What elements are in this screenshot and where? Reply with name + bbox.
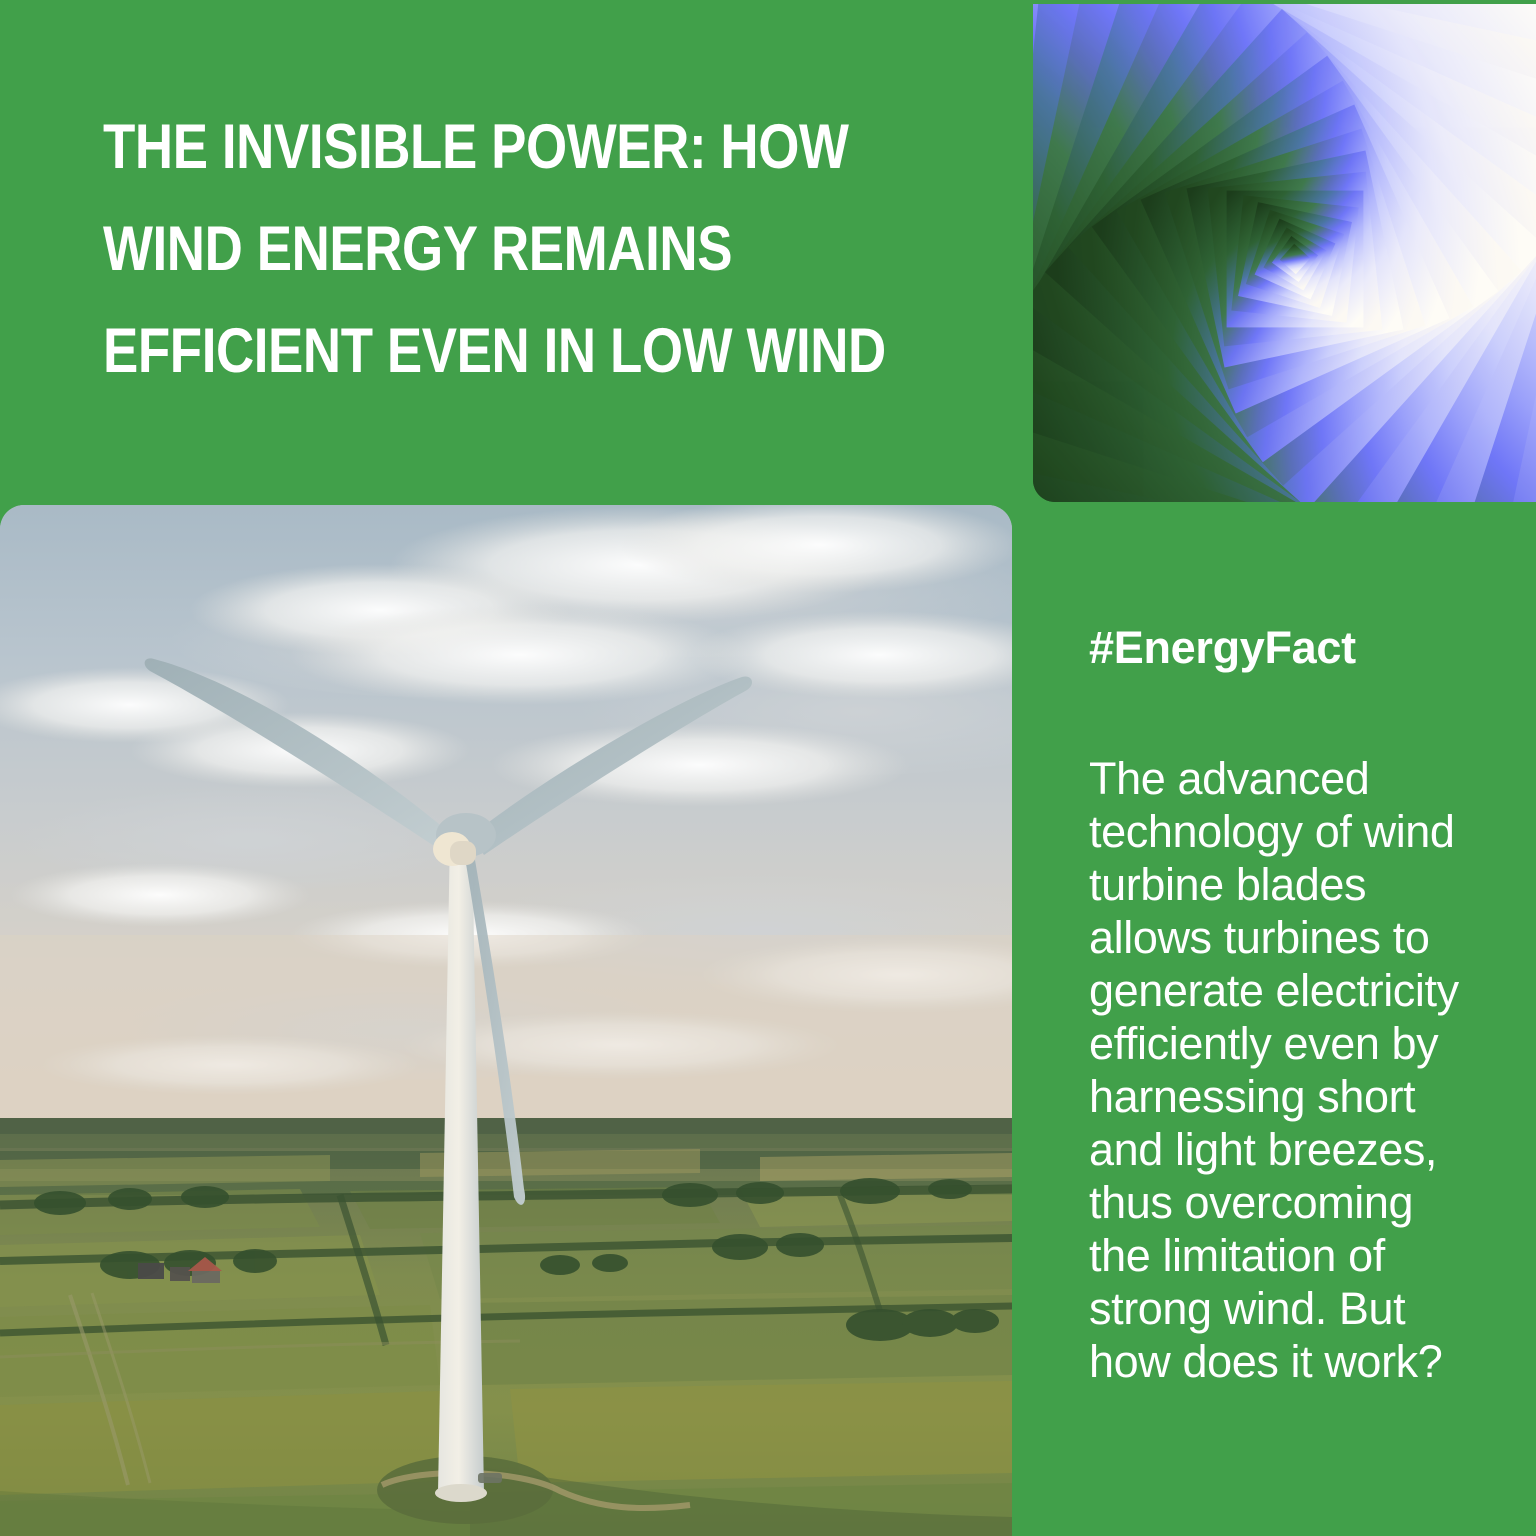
title-line-2: WIND ENERGY REMAINS: [103, 198, 809, 300]
poster-canvas: THE INVISIBLE POWER: HOW WIND ENERGY REM…: [0, 0, 1536, 1536]
fact-body-text: The advanced technology of wind turbine …: [1089, 752, 1484, 1388]
abstract-spiral-graphic: [1033, 4, 1536, 502]
title-line-1: THE INVISIBLE POWER: HOW: [103, 96, 809, 198]
hashtag-label: #EnergyFact: [1089, 620, 1489, 676]
wind-turbine-photo: [0, 505, 1012, 1536]
energy-fact-column: #EnergyFact The advanced technology of w…: [1089, 620, 1489, 1388]
title-line-3: EFFICIENT EVEN IN LOW WIND: [103, 300, 809, 402]
page-title: THE INVISIBLE POWER: HOW WIND ENERGY REM…: [103, 96, 943, 402]
